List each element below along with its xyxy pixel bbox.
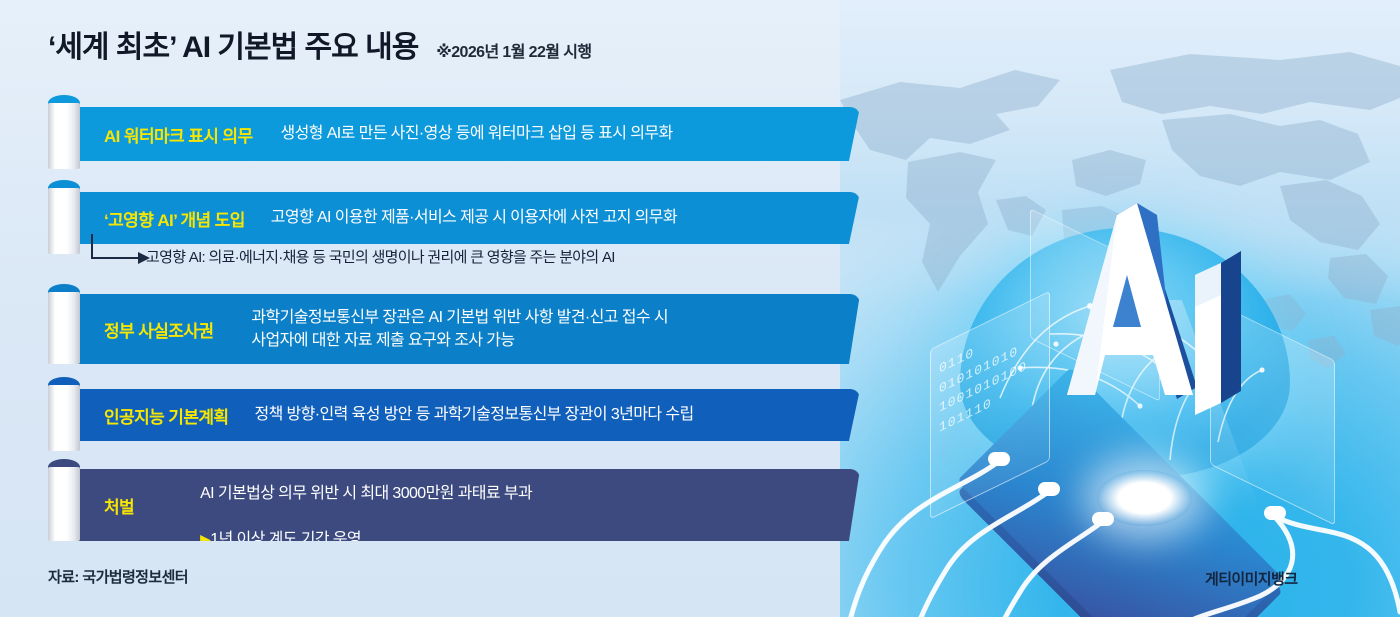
row-description: 과학기술정보통신부 장관은 AI 기본법 위반 사항 발견·신고 접수 시 사업…	[251, 306, 668, 352]
row-tab	[48, 459, 80, 533]
row-tab	[48, 95, 80, 169]
row-bar[interactable]: 인공지능 기본계획 정책 방향·인력 육성 방안 등 과학기술정보통신부 장관이…	[72, 389, 860, 441]
infographic-page: 0110 010101010 1001010100 101110	[0, 0, 1400, 617]
image-credit: 게티이미지뱅크	[1205, 568, 1297, 589]
row-description: 생성형 AI로 만든 사진·영상 등에 워터마크 삽입 등 표시 의무화	[281, 122, 673, 145]
source-label: 자료: 국가법령정보센터	[48, 566, 188, 587]
subnote-high-impact-ai: 고영향 AI: 의료·에너지·채용 등 국민의 생명이나 권리에 큰 영향을 주…	[86, 232, 786, 278]
row-tab-cylinder	[48, 188, 80, 254]
bullet-triangle-icon: ▶	[200, 531, 210, 547]
row-tab-cylinder	[48, 103, 80, 169]
row-tab	[48, 180, 80, 254]
subnote-text: 고영향 AI: 의료·에너지·채용 등 국민의 생명이나 권리에 큰 영향을 주…	[146, 246, 615, 267]
row-tab	[48, 284, 80, 358]
effective-date-note: ※2026년 1월 22월 시행	[436, 38, 591, 62]
cables-graphic	[840, 430, 1400, 617]
row-label: AI 워터마크 표시 의무	[104, 122, 253, 147]
ai-3d-letters	[1025, 175, 1275, 415]
row-bar[interactable]: AI 워터마크 표시 의무 생성형 AI로 만든 사진·영상 등에 워터마크 삽…	[72, 107, 860, 161]
page-title: ‘세계 최초’ AI 기본법 주요 내용	[48, 22, 418, 66]
ai-illustration: 0110 010101010 1001010100 101110	[840, 0, 1400, 617]
row-label: ‘고영향 AI’ 개념 도입	[104, 206, 245, 231]
row-tab-cylinder	[48, 467, 80, 541]
row-bar[interactable]: 정부 사실조사권 과학기술정보통신부 장관은 AI 기본법 위반 사항 발견·신…	[72, 294, 860, 364]
penalty-line-2: 1년 이상 계도 기간 운영	[210, 531, 361, 548]
row-label: 인공지능 기본계획	[104, 403, 228, 428]
row-description: AI 기본법상 의무 위반 시 최대 3000만원 과태료 부과 ▶1년 이상 …	[200, 459, 532, 552]
row-tab-cylinder	[48, 292, 80, 364]
row-label: 정부 사실조사권	[104, 317, 213, 342]
header: ‘세계 최초’ AI 기본법 주요 내용 ※2026년 1월 22월 시행	[48, 22, 591, 66]
penalty-line-1: AI 기본법상 의무 위반 시 최대 3000만원 과태료 부과	[200, 485, 532, 502]
row-tab	[48, 377, 80, 451]
row-label: 처벌	[104, 493, 134, 518]
row-tab-cylinder	[48, 385, 80, 451]
row-description: 정책 방향·인력 육성 방안 등 과학기술정보통신부 장관이 3년마다 수립	[254, 403, 693, 426]
row-description: 고영향 AI 이용한 제품·서비스 제공 시 이용자에 사전 고지 의무화	[271, 206, 677, 229]
row-bar[interactable]: 처벌 AI 기본법상 의무 위반 시 최대 3000만원 과태료 부과 ▶1년 …	[72, 469, 860, 541]
